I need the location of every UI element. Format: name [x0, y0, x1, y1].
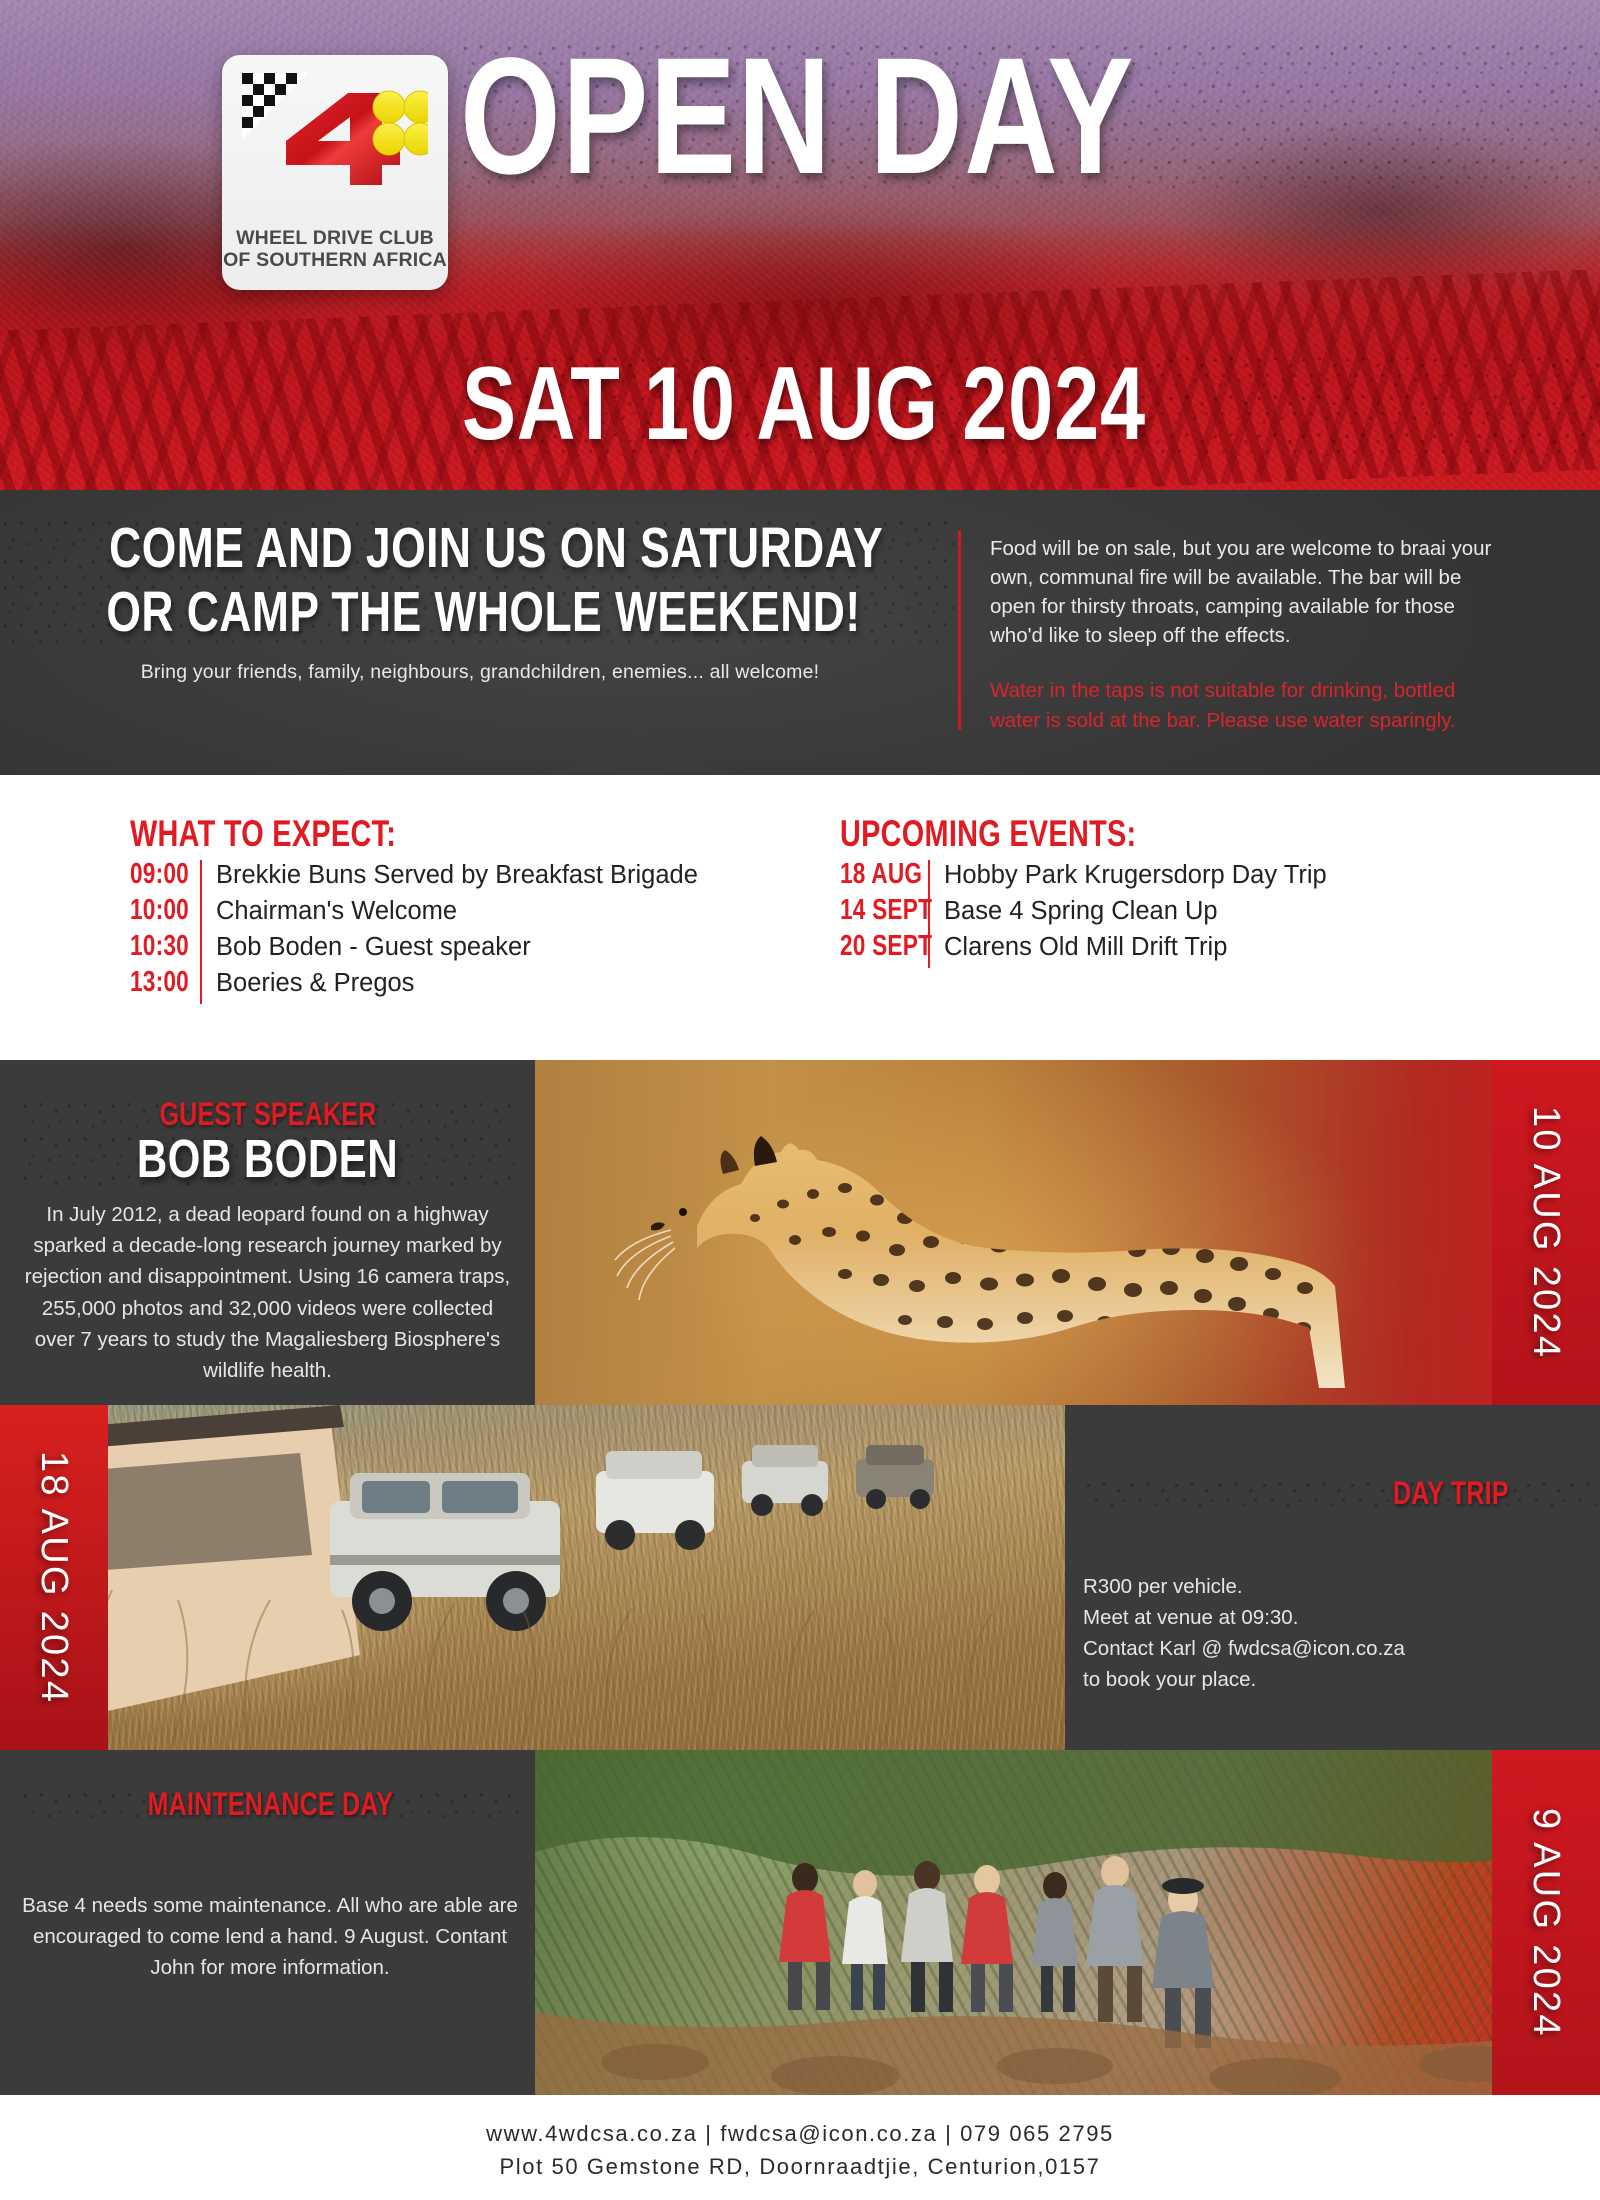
hobby-park-details: R300 per vehicle. Meet at venue at 09:30… — [1083, 1571, 1600, 1696]
invite-headline-line1-text: COME AND JOIN US ON SATURDAY — [109, 516, 883, 580]
upcoming-row: 14 SEPT Base 4 Spring Clean Up — [840, 896, 1327, 932]
maintenance-eyebrow-text: MAINTENANCE DAY — [147, 1788, 393, 1820]
footer-contact-line: www.4wdcsa.co.za | fwdcsa@icon.co.za | 0… — [0, 2117, 1600, 2150]
hobby-park-meet: Meet at venue at 09:30. — [1083, 1602, 1600, 1633]
guest-speaker-title: BOB BODEN — [20, 1132, 515, 1187]
feature-panel-maintenance: MAINTENANCE DAY Base 4 needs some mainte… — [0, 1750, 1600, 2095]
schedule-time: 13:00 — [130, 968, 180, 997]
upcoming-date: 14 SEPT — [840, 896, 904, 925]
hero-date-text: SAT 10 AUG 2024 — [462, 352, 1146, 456]
schedule-time: 10:00 — [130, 896, 180, 925]
hobby-park-price: R300 per vehicle. — [1083, 1571, 1600, 1602]
schedule-column: WHAT TO EXPECT: 09:00 Brekkie Buns Serve… — [130, 815, 698, 1004]
upcoming-text: Hobby Park Krugersdorp Day Trip — [944, 863, 1327, 889]
date-strip-text: 9 AUG 2024 — [1527, 1808, 1565, 2038]
leopard-nose — [651, 1222, 665, 1230]
schedule-row-divider — [200, 968, 202, 1004]
date-strip-10-aug: 10 AUG 2024 — [1492, 1060, 1600, 1405]
leopard-ear — [720, 1150, 739, 1174]
invite-headline-line2: OR CAMP THE WHOLE WEEKEND! — [0, 580, 960, 644]
volunteers-illustration — [535, 1750, 1600, 2095]
hero-date: SAT 10 AUG 2024 — [462, 352, 1600, 456]
guest-speaker-eyebrow: GUEST SPEAKER — [20, 1098, 515, 1130]
date-strip-18-aug: 18 AUG 2024 — [0, 1405, 108, 1750]
schedule-row: 10:30 Bob Boden - Guest speaker — [130, 932, 698, 968]
lists-section: WHAT TO EXPECT: 09:00 Brekkie Buns Serve… — [0, 775, 1600, 1060]
club-logo-card: WHEEL DRIVE CLUB OF SOUTHERN AFRICA — [222, 55, 448, 290]
vehicle-distant-silver — [742, 1445, 828, 1516]
schedule-row: 10:00 Chairman's Welcome — [130, 896, 698, 932]
leopard-whiskers — [615, 1230, 675, 1300]
leopard-illustration — [605, 1108, 1365, 1388]
maintenance-body: Base 4 needs some maintenance. All who a… — [20, 1890, 520, 1983]
date-strip-text: 10 AUG 2024 — [1527, 1106, 1565, 1359]
schedule-heading-text: WHAT TO EXPECT: — [130, 815, 396, 852]
guest-speaker-eyebrow-text: GUEST SPEAKER — [159, 1098, 376, 1130]
upcoming-date: 18 AUG — [840, 860, 904, 889]
guest-speaker-title-text: BOB BODEN — [137, 1132, 398, 1187]
schedule-text: Boeries & Pregos — [216, 971, 414, 997]
vehicle-distant-dark — [856, 1445, 934, 1509]
schedule-heading: WHAT TO EXPECT: — [130, 815, 698, 852]
upcoming-text: Base 4 Spring Clean Up — [944, 899, 1218, 925]
invite-info-block: Food will be on sale, but you are welcom… — [990, 534, 1500, 735]
upcoming-heading-text: UPCOMING EVENTS: — [840, 815, 1136, 852]
upcoming-text: Clarens Old Mill Drift Trip — [944, 935, 1227, 961]
hero-title-text: OPEN DAY — [460, 40, 1135, 194]
upcoming-row-divider — [928, 860, 930, 896]
schedule-time: 09:00 — [130, 860, 180, 889]
club-logo-text: WHEEL DRIVE CLUB OF SOUTHERN AFRICA — [222, 227, 448, 272]
4wd-club-logo-icon — [242, 73, 428, 203]
feature-panel-hobby-park: 18 AUG 2024 DAY TRIP R300 per vehicle. M… — [0, 1405, 1600, 1750]
upcoming-row: 18 AUG Hobby Park Krugersdorp Day Trip — [840, 860, 1327, 896]
hobby-park-eyebrow-text: DAY TRIP — [1393, 1477, 1509, 1509]
hobby-park-eyebrow: DAY TRIP — [1083, 1477, 1600, 1509]
schedule-row: 13:00 Boeries & Pregos — [130, 968, 698, 1004]
invite-divider — [958, 530, 961, 730]
invite-headline-block: COME AND JOIN US ON SATURDAY OR CAMP THE… — [0, 516, 960, 684]
schedule-text: Bob Boden - Guest speaker — [216, 935, 531, 961]
4x4-convoy-photo — [0, 1405, 1065, 1750]
schedule-time: 10:30 — [130, 932, 180, 961]
schedule-text: Chairman's Welcome — [216, 899, 457, 925]
date-strip-9-aug: 9 AUG 2024 — [1492, 1750, 1600, 2095]
club-logo-line1: WHEEL DRIVE CLUB — [222, 227, 448, 250]
leopard-eye — [679, 1208, 687, 1216]
invite-band: COME AND JOIN US ON SATURDAY OR CAMP THE… — [0, 490, 1600, 775]
schedule-text: Brekkie Buns Served by Breakfast Brigade — [216, 863, 698, 889]
upcoming-events-column: UPCOMING EVENTS: 18 AUG Hobby Park Kruge… — [840, 815, 1327, 968]
leopard-ear — [754, 1136, 777, 1166]
hobby-park-booking: to book your place. — [1083, 1664, 1600, 1695]
footer: www.4wdcsa.co.za | fwdcsa@icon.co.za | 0… — [0, 2095, 1600, 2200]
date-strip-text: 18 AUG 2024 — [35, 1451, 73, 1704]
guest-speaker-body: In July 2012, a dead leopard found on a … — [20, 1199, 515, 1386]
schedule-row-divider — [200, 932, 202, 968]
club-logo-line2: OF SOUTHERN AFRICA — [222, 249, 448, 272]
tree-canopy — [535, 1750, 1600, 1876]
schedule-row-divider — [200, 860, 202, 896]
hobby-park-content: DAY TRIP R300 per vehicle. Meet at venue… — [1065, 1477, 1600, 1696]
hero-banner: WHEEL DRIVE CLUB OF SOUTHERN AFRICA OPEN… — [0, 0, 1600, 490]
invite-headline-line1: COME AND JOIN US ON SATURDAY — [0, 516, 960, 580]
upcoming-row: 20 SEPT Clarens Old Mill Drift Trip — [840, 932, 1327, 968]
footer-address-line: Plot 50 Gemstone RD, Doornraadtjie, Cent… — [0, 2150, 1600, 2183]
invite-water-warning: Water in the taps is not suitable for dr… — [990, 676, 1500, 734]
invite-subnote: Bring your friends, family, neighbours, … — [0, 661, 960, 684]
vehicles-illustration — [0, 1405, 1065, 1750]
volunteers-photo — [535, 1750, 1600, 2095]
leopard-photo — [535, 1060, 1600, 1405]
feature-panel-guest-speaker: GUEST SPEAKER BOB BODEN In July 2012, a … — [0, 1060, 1600, 1405]
hobby-park-contact: Contact Karl @ fwdcsa@icon.co.za — [1083, 1633, 1600, 1664]
invite-info-text: Food will be on sale, but you are welcom… — [990, 534, 1500, 650]
vehicle-white-rear — [596, 1451, 714, 1550]
schedule-row: 09:00 Brekkie Buns Served by Breakfast B… — [130, 860, 698, 896]
vehicle-white-suv — [330, 1473, 560, 1631]
maintenance-eyebrow: MAINTENANCE DAY — [20, 1788, 520, 1820]
invite-headline-line2-text: OR CAMP THE WHOLE WEEKEND! — [106, 580, 860, 644]
upcoming-date: 20 SEPT — [840, 932, 904, 961]
maintenance-content: MAINTENANCE DAY Base 4 needs some mainte… — [20, 1788, 520, 1983]
guest-speaker-content: GUEST SPEAKER BOB BODEN In July 2012, a … — [20, 1098, 515, 1386]
upcoming-heading: UPCOMING EVENTS: — [840, 815, 1327, 852]
page-title: OPEN DAY — [460, 40, 1600, 194]
schedule-row-divider — [200, 896, 202, 932]
